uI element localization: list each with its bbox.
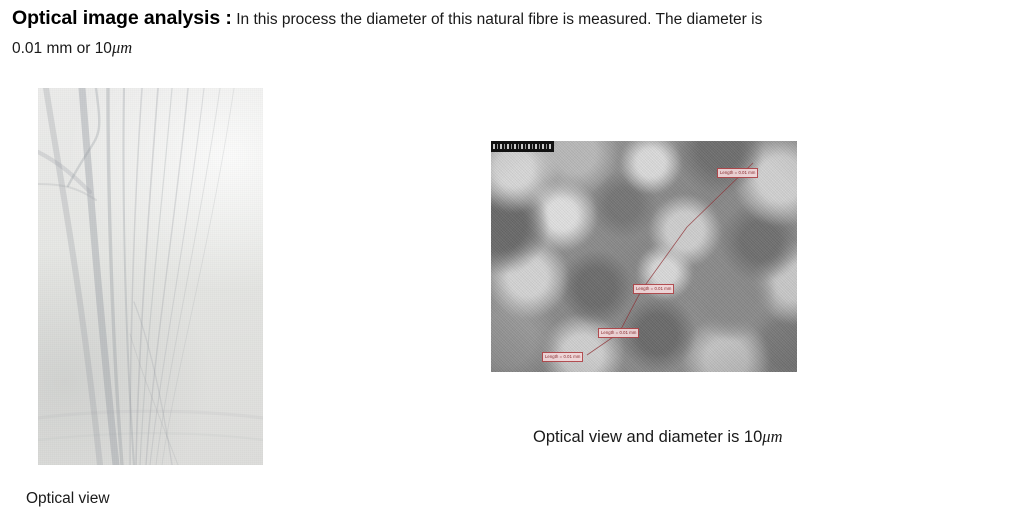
right-caption-text: Optical view and diameter is 10: [533, 428, 762, 446]
info-bar-text-glyphs: [493, 144, 552, 149]
left-image-caption: Optical view: [26, 490, 110, 508]
micrometre-unit: μm: [762, 427, 782, 446]
heading-block: Optical image analysis : In this process…: [12, 4, 1012, 63]
measurement-label: Length = 0.01 mm: [542, 352, 583, 362]
micrometre-unit: μm: [112, 38, 132, 57]
measurement-label: Length = 0.01 mm: [633, 284, 674, 294]
heading-description-line1: In this process the diameter of this nat…: [236, 11, 762, 28]
heading-description-line2: 0.01 mm or 10: [12, 40, 112, 57]
optical-view-image: [38, 88, 263, 465]
micrograph-image: Length = 0.01 mm Length = 0.01 mm Length…: [491, 141, 797, 372]
measurement-label: Length = 0.01 mm: [717, 168, 758, 178]
micrograph-info-bar: [491, 141, 554, 152]
measurement-label: Length = 0.01 mm: [598, 328, 639, 338]
page-title: Optical image analysis :: [12, 7, 232, 29]
right-image-caption: Optical view and diameter is 10μm: [533, 427, 782, 447]
photo-grain-overlay: [38, 88, 263, 465]
